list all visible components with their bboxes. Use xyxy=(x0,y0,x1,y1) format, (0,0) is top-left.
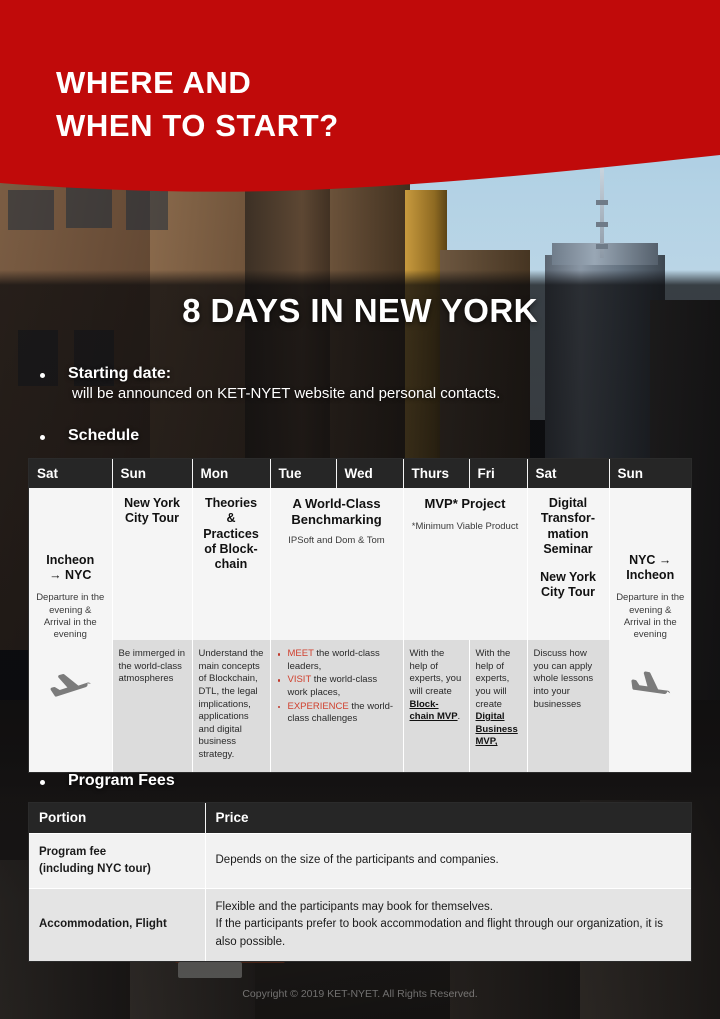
fees-col-price: Price xyxy=(205,803,691,833)
col-header-mon: Mon xyxy=(192,459,270,488)
detail-emphasis: Digital Business MVP, xyxy=(476,711,518,747)
airplane-landing-icon xyxy=(616,664,686,715)
cell-depart: Incheon → NYC Departure in the evening &… xyxy=(29,488,112,772)
table-row: Accommodation, Flight Flexible and the p… xyxy=(29,889,691,961)
cell-arrive: NYC → Incheon Departure in the evening &… xyxy=(609,488,691,772)
airplane-icon xyxy=(35,664,106,715)
fees-price: Depends on the size of the participants … xyxy=(205,833,691,889)
cell-title: Theories & Practices of Block- chain xyxy=(199,496,264,572)
slide: WHERE AND WHEN TO START? 8 DAYS IN NEW Y… xyxy=(0,0,720,1019)
detail-sun-tour: Be immerged in the world-class atmospher… xyxy=(112,640,192,772)
detail-emphasis: Block-chain MVP xyxy=(410,699,458,723)
bullet-detail: will be announced on KET-NYET website an… xyxy=(72,383,500,406)
schedule-header-row: Sat Sun Mon Tue Wed Thurs Fri Sat Sun xyxy=(29,459,691,488)
cell-digital-transformation: Digital Transfor- mation Seminar New Yor… xyxy=(527,488,609,640)
schedule-main-row: Incheon → NYC Departure in the evening &… xyxy=(29,488,691,640)
bullet-dot-icon xyxy=(40,373,45,378)
fees-portion: Accommodation, Flight xyxy=(29,889,205,961)
cell-title: Incheon → NYC xyxy=(35,553,106,584)
cell-sun-tour: New York City Tour xyxy=(112,488,192,640)
bullet-dot-icon xyxy=(40,435,45,440)
col-header-tue: Tue xyxy=(270,459,336,488)
fees-table: Portion Price Program fee (including NYC… xyxy=(29,803,691,961)
col-header-sun-2: Sun xyxy=(609,459,691,488)
col-header-fri: Fri xyxy=(469,459,527,488)
col-header-sat-1: Sat xyxy=(29,459,112,488)
detail-fri-mvp: With the help of experts, you will creat… xyxy=(469,640,527,772)
cell-note: *Minimum Viable Product xyxy=(410,521,521,533)
cell-note: IPSoft and Dom & Tom xyxy=(277,535,397,547)
cell-title: A World-Class Benchmarking xyxy=(277,496,397,528)
detail-sat-seminar: Discuss how you can apply whole lessons … xyxy=(527,640,609,772)
bullet-dot-icon xyxy=(40,780,45,785)
section-heading: 8 DAYS IN NEW YORK xyxy=(0,292,720,330)
schedule-table: Sat Sun Mon Tue Wed Thurs Fri Sat Sun In… xyxy=(29,459,691,772)
detail-benchmarking: MEET the world-class leaders, VISIT the … xyxy=(270,640,403,772)
cell-mon-blockchain: Theories & Practices of Block- chain xyxy=(192,488,270,640)
detail-thurs-mvp: With the help of experts, you will creat… xyxy=(403,640,469,772)
bullet-starting-date: Starting date: will be announced on KET-… xyxy=(40,365,500,406)
cell-title: MVP* Project xyxy=(410,496,521,512)
list-item: EXPERIENCE the world-class challenges xyxy=(277,701,397,726)
detail-text: With the help of experts, you will creat… xyxy=(476,648,511,710)
keyword: VISIT xyxy=(288,674,312,685)
fees-portion: Program fee (including NYC tour) xyxy=(29,833,205,889)
detail-tail: . xyxy=(458,711,461,722)
fees-price: Flexible and the participants may book f… xyxy=(205,889,691,961)
list-item: MEET the world-class leaders, xyxy=(277,648,397,673)
cell-mvp-project: MVP* Project *Minimum Viable Product xyxy=(403,488,527,640)
keyword: MEET xyxy=(288,648,314,659)
table-row: Program fee (including NYC tour) Depends… xyxy=(29,833,691,889)
col-header-thurs: Thurs xyxy=(403,459,469,488)
fees-col-portion: Portion xyxy=(29,803,205,833)
footer-copyright: Copyright © 2019 KET-NYET. All Rights Re… xyxy=(0,988,720,1000)
cell-title: Digital Transfor- mation Seminar xyxy=(534,496,603,557)
detail-mon-blockchain: Understand the main concepts of Blockcha… xyxy=(192,640,270,772)
cell-title: NYC → Incheon xyxy=(616,553,686,584)
bullet-label: Program Fees xyxy=(68,772,175,790)
cell-benchmarking: A World-Class Benchmarking IPSoft and Do… xyxy=(270,488,403,640)
col-header-sat-2: Sat xyxy=(527,459,609,488)
col-header-wed: Wed xyxy=(336,459,403,488)
cell-note: Departure in the evening & Arrival in th… xyxy=(35,592,106,641)
cell-title: New York City Tour xyxy=(119,496,186,527)
benchmarking-list: MEET the world-class leaders, VISIT the … xyxy=(277,648,397,726)
bullet-label: Schedule xyxy=(68,427,139,445)
schedule-detail-row: Be immerged in the world-class atmospher… xyxy=(29,640,691,772)
detail-text: With the help of experts, you will creat… xyxy=(410,648,462,697)
bullet-program-fees: Program Fees xyxy=(40,772,175,790)
bullet-label: Starting date: xyxy=(68,365,500,383)
cell-subtitle: New York City Tour xyxy=(534,570,603,601)
col-header-sun-1: Sun xyxy=(112,459,192,488)
fees-header-row: Portion Price xyxy=(29,803,691,833)
cell-note: Departure in the evening & Arrival in th… xyxy=(616,592,686,641)
list-item: VISIT the world-class work places, xyxy=(277,674,397,699)
keyword: EXPERIENCE xyxy=(288,701,349,712)
bullet-schedule: Schedule xyxy=(40,427,139,445)
